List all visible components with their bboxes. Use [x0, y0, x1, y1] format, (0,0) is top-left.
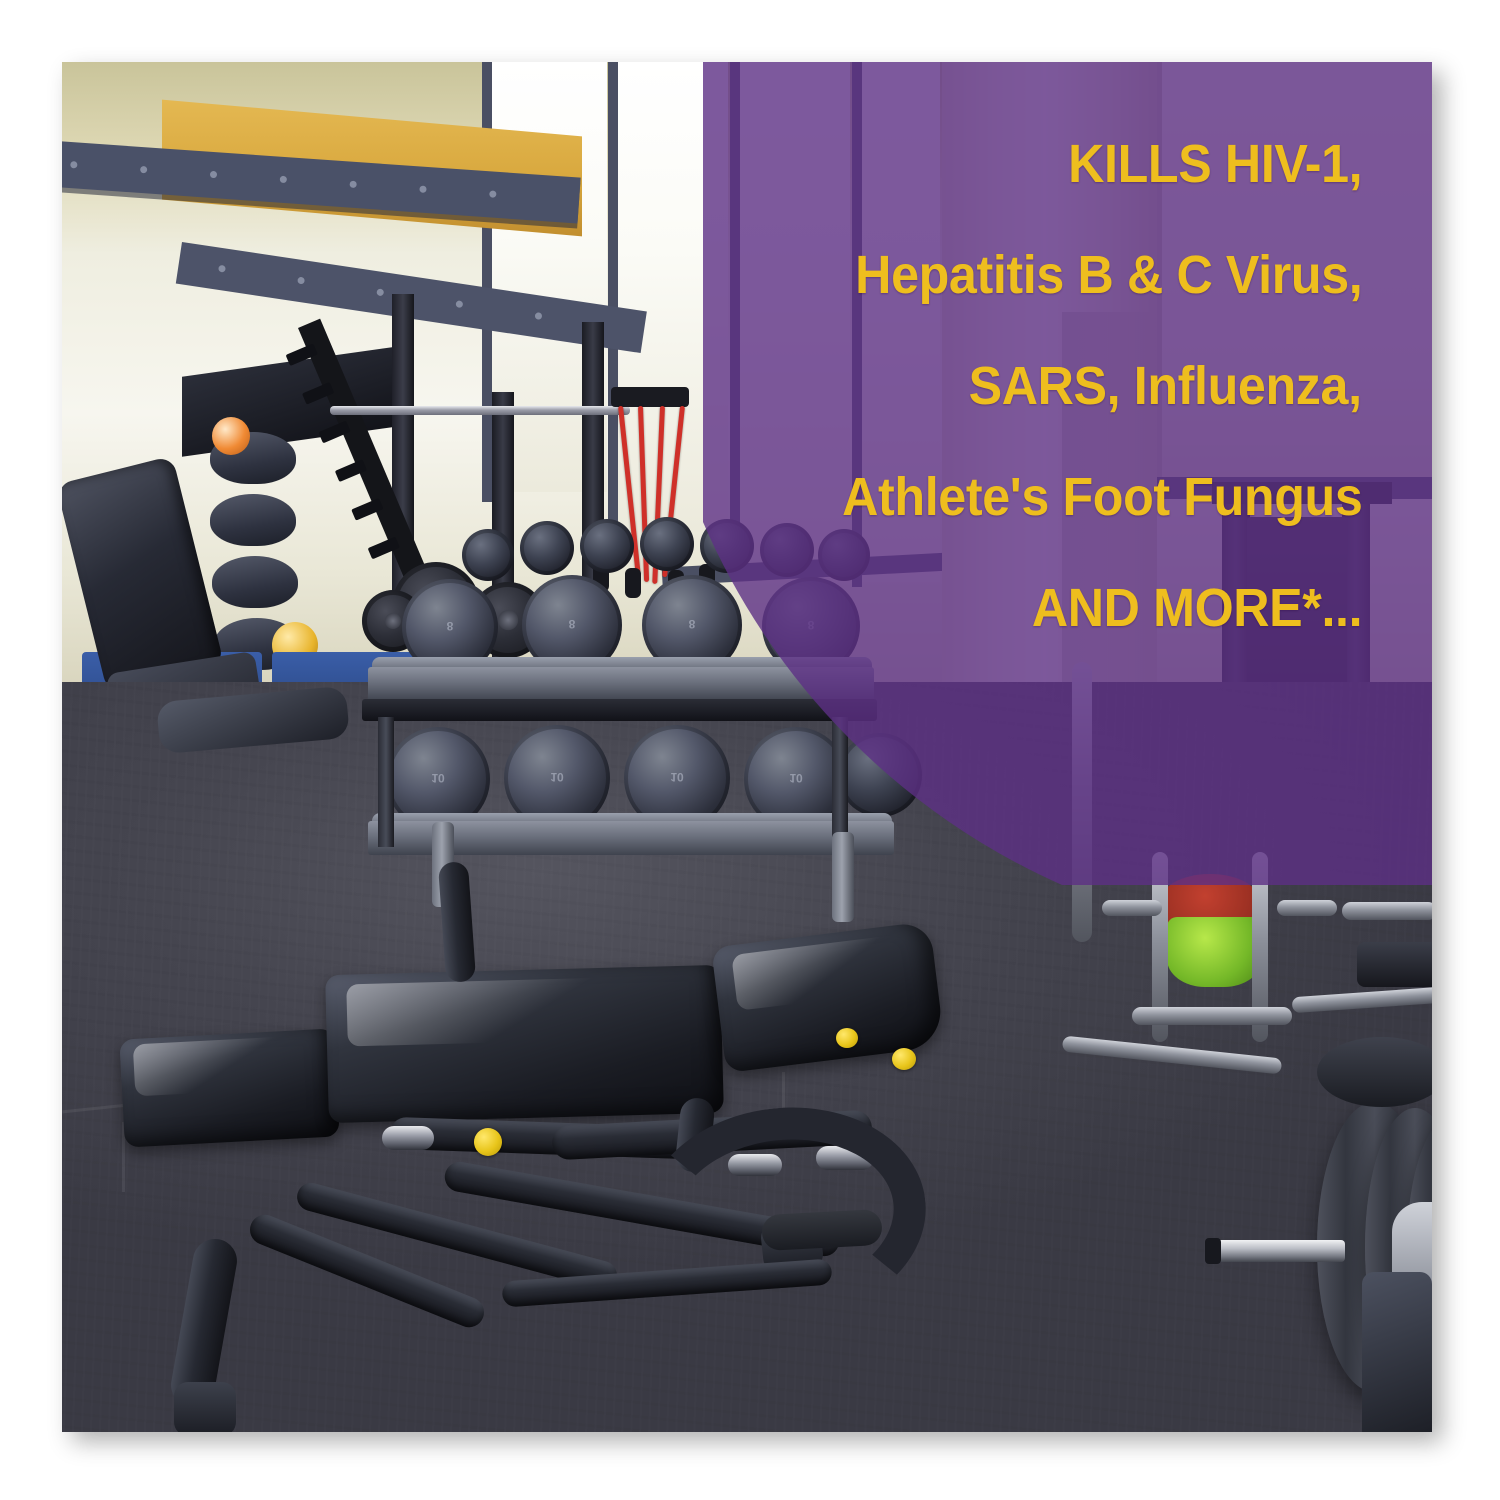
- ad-canvas: 8 8 8 8 10: [0, 0, 1500, 1500]
- headline-line-2: Hepatitis B & C Virus,: [855, 248, 1362, 302]
- machine-pad-right: [1357, 942, 1432, 987]
- barbell-on-rack: [330, 406, 630, 415]
- headline-block: KILLS HIV-1, Hepatitis B & C Virus, SARS…: [703, 62, 1432, 885]
- bench-pad-right: [1362, 1272, 1432, 1432]
- medicine-ball: [212, 556, 298, 608]
- headline-line-3: SARS, Influenza,: [969, 359, 1362, 413]
- barbell-sleeve: [1217, 1240, 1345, 1262]
- bench-height-adjust-knob[interactable]: [474, 1128, 502, 1156]
- rack-leg: [378, 717, 394, 847]
- dumbbell-rear: [462, 529, 514, 581]
- adjustable-weight-bench: [122, 922, 962, 1392]
- dumbbell-weight-label: 8: [522, 617, 622, 631]
- bench-foot-cap: [174, 1382, 236, 1432]
- headline-line-4: Athlete's Foot Fungus: [842, 470, 1362, 524]
- headline-line-5: AND MORE*...: [1032, 581, 1362, 635]
- medicine-ball: [210, 494, 296, 546]
- gym-photograph: 8 8 8 8 10: [62, 62, 1432, 1432]
- dumbbell-weight-label: 10: [504, 770, 610, 784]
- bench-seat-adjust-knob[interactable]: [892, 1048, 916, 1070]
- bench-main-pad: [325, 965, 724, 1123]
- floor-tube-accent: [761, 1209, 883, 1251]
- bar-right: [1342, 902, 1432, 920]
- machine-roller-right: [1277, 900, 1337, 916]
- bench-chrome-peg: [728, 1154, 782, 1176]
- headline-line-1: KILLS HIV-1,: [1068, 137, 1362, 191]
- resistance-band-anchor: [611, 387, 689, 407]
- dumbbell-rear: [580, 519, 634, 573]
- exercise-ball-orange: [212, 417, 250, 455]
- machine-crossbar-right: [1132, 1007, 1292, 1025]
- dumbbell-weight-label: 8: [402, 619, 498, 633]
- dumbbell-weight-label: 10: [386, 771, 490, 785]
- dumbbell-rear: [520, 521, 574, 575]
- window-mullion: [608, 62, 618, 542]
- dumbbell-rear: [640, 517, 694, 571]
- machine-roller-right: [1102, 900, 1162, 916]
- bench-head-pad: [119, 1028, 339, 1147]
- barbell-collar: [1205, 1238, 1221, 1264]
- bench-chrome-fitting: [382, 1126, 434, 1150]
- machine-seat-green: [1167, 917, 1262, 987]
- bench-lock-pin[interactable]: [836, 1028, 858, 1048]
